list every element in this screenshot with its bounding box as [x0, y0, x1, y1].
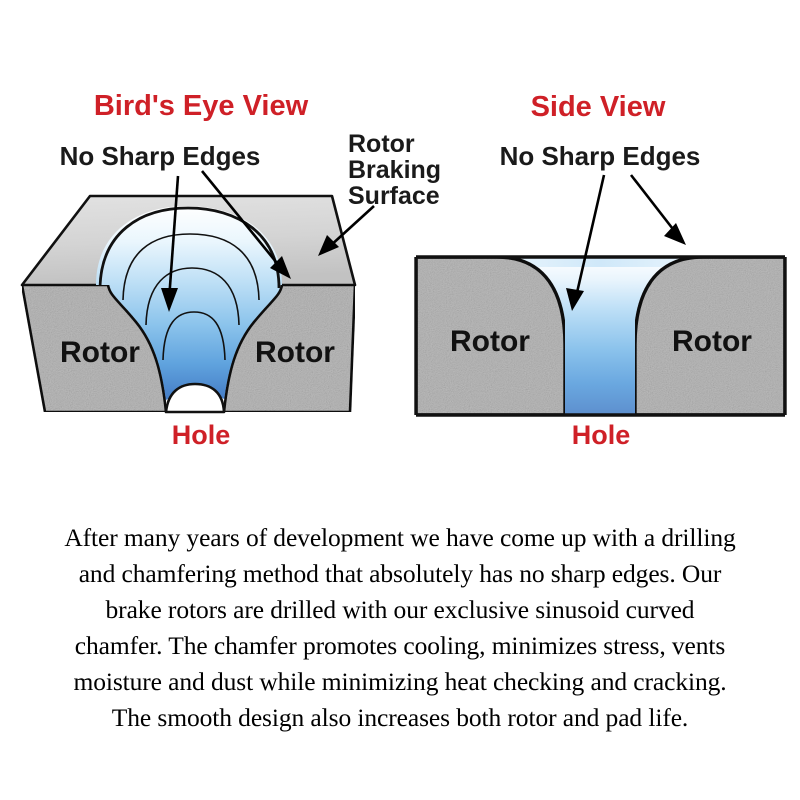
rotor-label-right-side-view: Rotor [672, 325, 752, 358]
caption-line: After many years of development we have … [0, 520, 800, 556]
diagram-area: Bird's Eye View No Sharp Edges Rotor Bra… [0, 0, 800, 470]
caption-paragraph: After many years of development we have … [0, 520, 800, 780]
caption-line: The smooth design also increases both ro… [0, 700, 800, 736]
rotor-braking-surface-label-line-3: Surface [348, 182, 440, 210]
page-root: Bird's Eye View No Sharp Edges Rotor Bra… [0, 0, 800, 800]
side-view-group: Side View No Sharp Edges Rotor Rotor Hol… [416, 91, 785, 450]
no-sharp-edges-arrow-right-side-view [631, 175, 686, 245]
caption-line: brake rotors are drilled with our exclus… [0, 592, 800, 628]
rotor-braking-surface-label-line-2: Braking [348, 156, 441, 184]
hole-label-side-view: Hole [572, 420, 631, 450]
rotor-diagram-svg: Bird's Eye View No Sharp Edges Rotor Bra… [0, 0, 800, 470]
side-view-no-sharp-edges-label: No Sharp Edges [500, 141, 701, 171]
rotor-label-left-birds-eye: Rotor [60, 336, 140, 369]
side-view-title: Side View [531, 91, 666, 123]
rotor-label-left-side-view: Rotor [450, 325, 530, 358]
hole-label-birds-eye: Hole [172, 420, 231, 450]
caption-line: chamfer. The chamfer promotes cooling, m… [0, 628, 800, 664]
rotor-braking-surface-label-line-1: Rotor [348, 130, 415, 158]
birds-eye-view-group: Bird's Eye View No Sharp Edges Rotor Bra… [22, 90, 441, 450]
birds-eye-no-sharp-edges-label: No Sharp Edges [60, 141, 261, 171]
caption-line: and chamfering method that absolutely ha… [0, 556, 800, 592]
rotor-label-right-birds-eye: Rotor [255, 336, 335, 369]
caption-line: moisture and dust while minimizing heat … [0, 664, 800, 700]
birds-eye-title: Bird's Eye View [94, 90, 309, 122]
